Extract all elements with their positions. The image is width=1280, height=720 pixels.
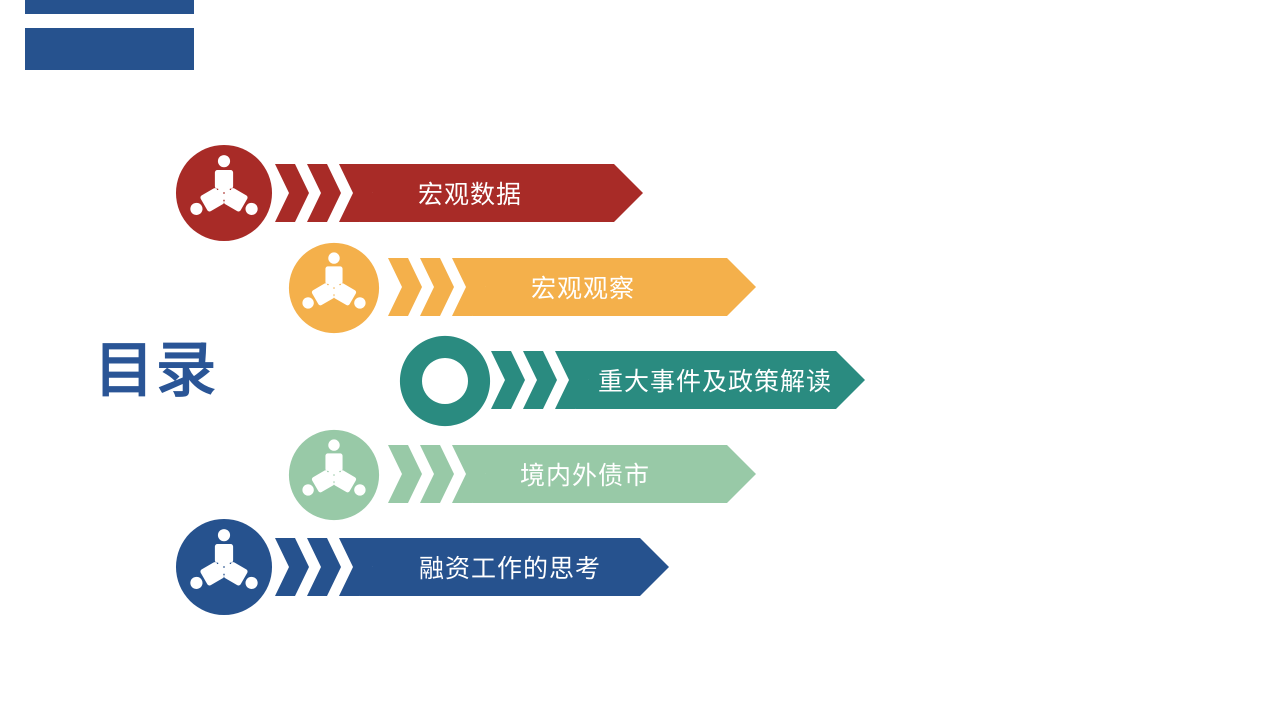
- toc-item-label: 重大事件及政策解读: [598, 351, 832, 409]
- slide-canvas: 目录: [0, 0, 1280, 720]
- chevron-right-icon: [420, 258, 454, 316]
- chevron-right-icon: [388, 445, 422, 503]
- toc-row[interactable]: 融资工作的思考: [175, 518, 675, 618]
- teamwork-people-icon: [175, 518, 273, 616]
- toc-item-label: 宏观数据: [418, 164, 522, 222]
- teamwork-people-icon: [175, 144, 273, 242]
- chevron-right-icon: [523, 351, 557, 409]
- chevron-right-icon: [275, 538, 309, 596]
- chevron-right-icon: [307, 164, 341, 222]
- toc-row[interactable]: 宏观观察: [288, 238, 768, 338]
- toc-item-label: 宏观观察: [531, 258, 635, 316]
- toc-item-label: 境内外债市: [520, 445, 650, 503]
- decorative-bar-bottom: [25, 28, 194, 70]
- chevron-right-icon: [307, 538, 341, 596]
- toc-row[interactable]: 重大事件及政策解读: [399, 331, 879, 431]
- toc-row[interactable]: 境内外债市: [288, 425, 768, 525]
- toc-item-label: 融资工作的思考: [419, 538, 601, 596]
- teamwork-people-icon: [288, 429, 380, 521]
- teamwork-people-icon: [288, 242, 380, 334]
- ring-circle-icon: [399, 335, 491, 427]
- chevron-right-icon: [388, 258, 422, 316]
- decorative-bar-top: [25, 0, 194, 14]
- chevron-right-icon: [420, 445, 454, 503]
- toc-row[interactable]: 宏观数据: [175, 144, 655, 244]
- page-title: 目录: [94, 341, 218, 401]
- chevron-right-icon: [275, 164, 309, 222]
- chevron-right-icon: [491, 351, 525, 409]
